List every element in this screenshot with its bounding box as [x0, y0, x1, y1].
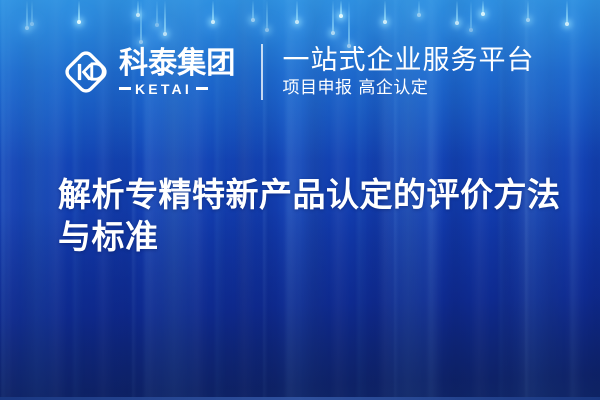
light-streak-dot [211, 20, 215, 24]
light-streak-dot [526, 18, 530, 22]
light-streak-dot [565, 22, 569, 26]
banner-hero: 科泰集团 KETAI 一站式企业服务平台 项目申报 高企认定 解析专精特新产品认… [0, 0, 600, 400]
slogan-sub: 项目申报 高企认定 [283, 79, 535, 98]
brand-name-en-row: KETAI [119, 82, 239, 96]
light-streak [456, 0, 458, 23]
light-streak [348, 0, 350, 46]
brand-wordmark: 科泰集团 KETAI [119, 49, 239, 96]
light-streak-dot [481, 12, 485, 16]
light-streak-dot [30, 22, 34, 26]
page-title: 解析专精特新产品认定的评价方法与标准 [58, 174, 563, 258]
light-streak [527, 0, 529, 20]
light-streak [332, 0, 334, 33]
wordmark-rule-right [196, 87, 208, 90]
light-streak [156, 0, 158, 25]
light-streak [266, 0, 268, 30]
light-streak-dot [251, 18, 255, 22]
light-streak [340, 0, 342, 16]
brand-header: 科泰集团 KETAI 一站式企业服务平台 项目申报 高企认定 [62, 44, 535, 100]
light-streak-dot [339, 14, 343, 18]
wordmark-rule-left [119, 87, 131, 90]
light-streak-dot [163, 32, 167, 36]
light-streak [482, 0, 484, 14]
light-streak-dot [417, 13, 421, 17]
light-streak [137, 0, 139, 15]
light-streak-dot [77, 20, 81, 24]
light-streak [26, 0, 28, 28]
light-streak [296, 0, 298, 22]
brand-name-en: KETAI [135, 82, 192, 96]
light-streak [78, 0, 80, 22]
brand-name-cn: 科泰集团 [119, 49, 235, 79]
light-streak [212, 0, 214, 22]
light-streak-dot [455, 21, 459, 25]
light-streak [384, 0, 386, 22]
light-streak-dot [136, 13, 140, 17]
light-streak-dot [331, 31, 335, 35]
light-streak [566, 0, 568, 24]
slogan-block: 一站式企业服务平台 项目申报 高企认定 [283, 46, 535, 98]
light-streak-dot [383, 20, 387, 24]
header-vertical-divider [261, 44, 263, 100]
light-streak-dot [295, 20, 299, 24]
light-streak-dot [265, 28, 269, 32]
light-streak [470, 0, 472, 30]
light-streak [31, 0, 33, 24]
light-streak-dot [155, 23, 159, 27]
ketai-diamond-monogram-icon [62, 48, 110, 96]
light-streak-dot [469, 28, 473, 32]
light-streak [164, 0, 166, 34]
slogan-main: 一站式企业服务平台 [283, 46, 535, 76]
light-streak [252, 0, 254, 20]
light-streak-dot [25, 26, 29, 30]
light-streak [140, 0, 142, 42]
light-streak [418, 0, 420, 15]
